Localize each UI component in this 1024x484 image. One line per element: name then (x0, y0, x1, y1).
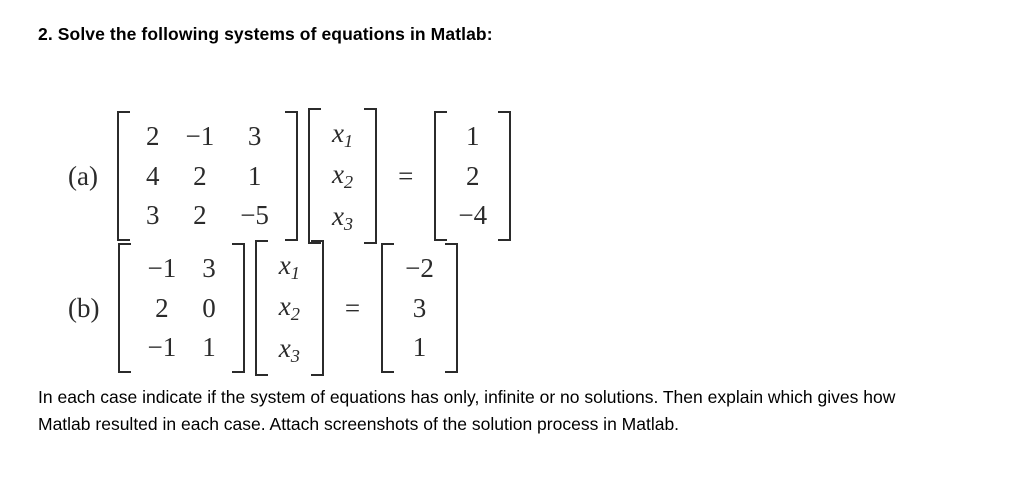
matrix-row: x2 (271, 287, 308, 328)
matrix-row: 3 (397, 289, 442, 328)
matrix-row: 2 0 (134, 289, 228, 328)
matrix-cell: 1 (189, 328, 229, 367)
matrix-row: 3 2 −5 (133, 196, 282, 235)
unknown-subscript: 3 (344, 214, 353, 234)
matrix-cell: 1 (227, 157, 282, 196)
equation-a-coefficient-matrix: 2 −1 3 4 2 1 3 2 −5 (117, 111, 298, 241)
matrix-row: x1 (324, 114, 361, 155)
equation-a: (a) 2 −1 3 4 2 1 3 2 −5 x1 (68, 108, 516, 244)
equals-sign: = (345, 295, 360, 322)
equation-a-unknown-vector: x1 x2 x3 (308, 108, 377, 244)
matrix-cell: −5 (227, 196, 282, 235)
matrix-row: x3 (271, 329, 308, 370)
matrix-row: −1 3 (134, 249, 228, 288)
matrix-cell: 2 (133, 117, 173, 156)
unknown-symbol: x (332, 201, 344, 231)
question-heading: 2. Solve the following systems of equati… (38, 24, 493, 45)
matrix-cell: 2 (172, 157, 227, 196)
matrix-row: −1 1 (134, 328, 228, 367)
matrix-cell: x3 (271, 329, 308, 370)
matrix-cell: 4 (133, 157, 173, 196)
unknown-subscript: 3 (291, 346, 300, 366)
matrix-cell: 1 (397, 328, 442, 367)
matrix-cell: 2 (450, 157, 495, 196)
matrix-row: x1 (271, 246, 308, 287)
matrix-row: 2 (450, 157, 495, 196)
matrix-row: 4 2 1 (133, 157, 282, 196)
unknown-subscript: 2 (344, 173, 353, 193)
equation-b-rhs-vector: −2 3 1 (381, 243, 458, 373)
instructions-paragraph: In each case indicate if the system of e… (38, 384, 948, 437)
matrix-row: x3 (324, 197, 361, 238)
matrix-cell: 1 (450, 117, 495, 156)
unknown-subscript: 1 (344, 131, 353, 151)
matrix-cell: x1 (271, 246, 308, 287)
matrix-cell: −4 (450, 196, 495, 235)
matrix-cell: 0 (189, 289, 229, 328)
unknown-subscript: 2 (291, 305, 300, 325)
matrix-row: 1 (397, 328, 442, 367)
unknown-symbol: x (279, 333, 291, 363)
matrix-row: −4 (450, 196, 495, 235)
equation-a-rhs-vector: 1 2 −4 (434, 111, 511, 241)
matrix-cell: x2 (271, 287, 308, 328)
matrix-cell: 3 (133, 196, 173, 235)
matrix-cell: x2 (324, 155, 361, 196)
equation-b-coefficient-matrix: −1 3 2 0 −1 1 (118, 243, 244, 373)
equation-b-label: (b) (68, 295, 99, 322)
matrix-row: 2 −1 3 (133, 117, 282, 156)
matrix-cell: 2 (172, 196, 227, 235)
equation-b: (b) −1 3 2 0 −1 1 x1 x2 x (68, 240, 463, 376)
matrix-row: 1 (450, 117, 495, 156)
matrix-cell: −2 (397, 249, 442, 288)
matrix-cell: 3 (189, 249, 229, 288)
unknown-symbol: x (332, 159, 344, 189)
matrix-row: x2 (324, 155, 361, 196)
matrix-cell: −1 (134, 328, 189, 367)
equation-b-unknown-vector: x1 x2 x3 (255, 240, 324, 376)
matrix-cell: 3 (227, 117, 282, 156)
unknown-subscript: 1 (291, 263, 300, 283)
matrix-cell: −1 (172, 117, 227, 156)
equals-sign: = (398, 163, 413, 190)
unknown-symbol: x (279, 291, 291, 321)
matrix-cell: 3 (397, 289, 442, 328)
matrix-cell: x1 (324, 114, 361, 155)
matrix-row: −2 (397, 249, 442, 288)
matrix-cell: x3 (324, 197, 361, 238)
unknown-symbol: x (332, 118, 344, 148)
equation-a-label: (a) (68, 163, 98, 190)
unknown-symbol: x (279, 250, 291, 280)
matrix-cell: −1 (134, 249, 189, 288)
matrix-cell: 2 (134, 289, 189, 328)
